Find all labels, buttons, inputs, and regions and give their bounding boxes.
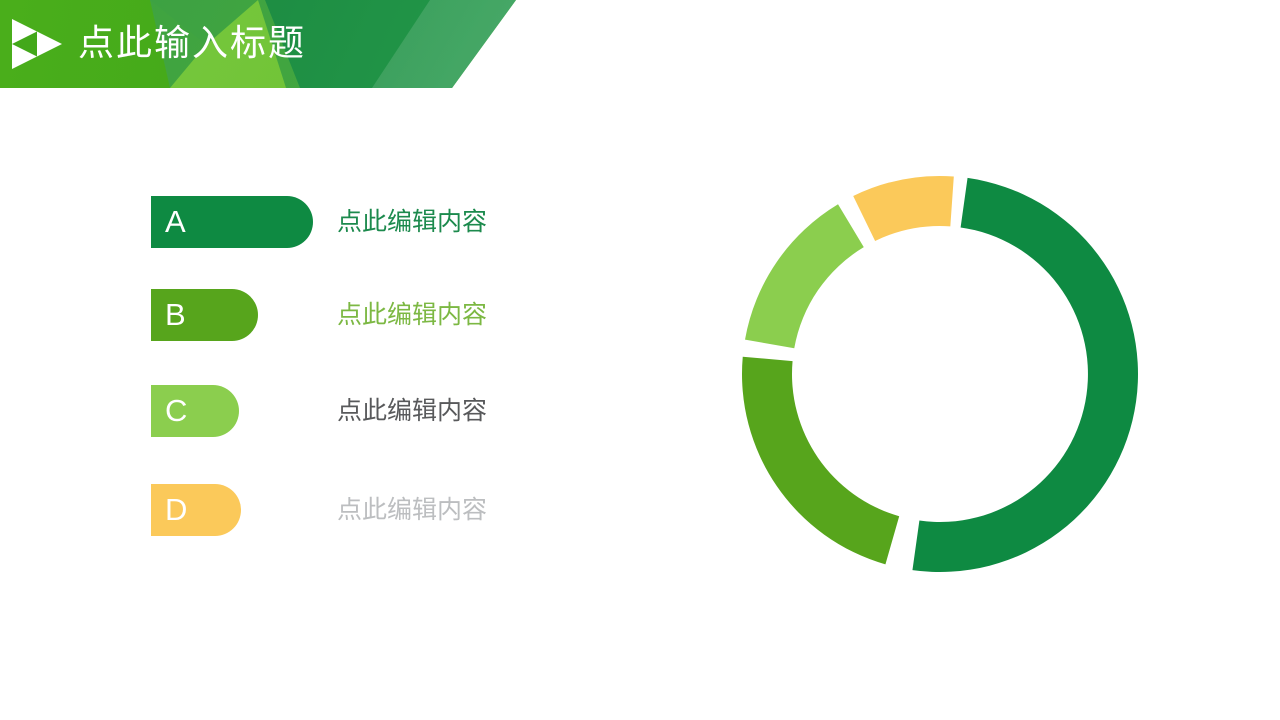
- donut-segment-d[interactable]: [853, 176, 954, 241]
- item-letter-c: C: [165, 385, 187, 437]
- donut-chart: [722, 162, 1158, 588]
- donut-segment-a[interactable]: [912, 178, 1138, 572]
- item-text-c[interactable]: 点此编辑内容: [337, 385, 487, 437]
- item-text-a[interactable]: 点此编辑内容: [337, 196, 487, 248]
- item-letter-a: A: [165, 196, 186, 248]
- item-list: A 点此编辑内容 B 点此编辑内容 C 点此编辑内容 D 点此编辑内容: [0, 0, 640, 720]
- item-text-d[interactable]: 点此编辑内容: [337, 484, 487, 536]
- item-letter-d: D: [165, 484, 187, 536]
- item-text-b[interactable]: 点此编辑内容: [337, 289, 487, 341]
- donut-segment-b[interactable]: [742, 357, 899, 565]
- item-letter-b: B: [165, 289, 186, 341]
- donut-segment-c[interactable]: [745, 204, 864, 348]
